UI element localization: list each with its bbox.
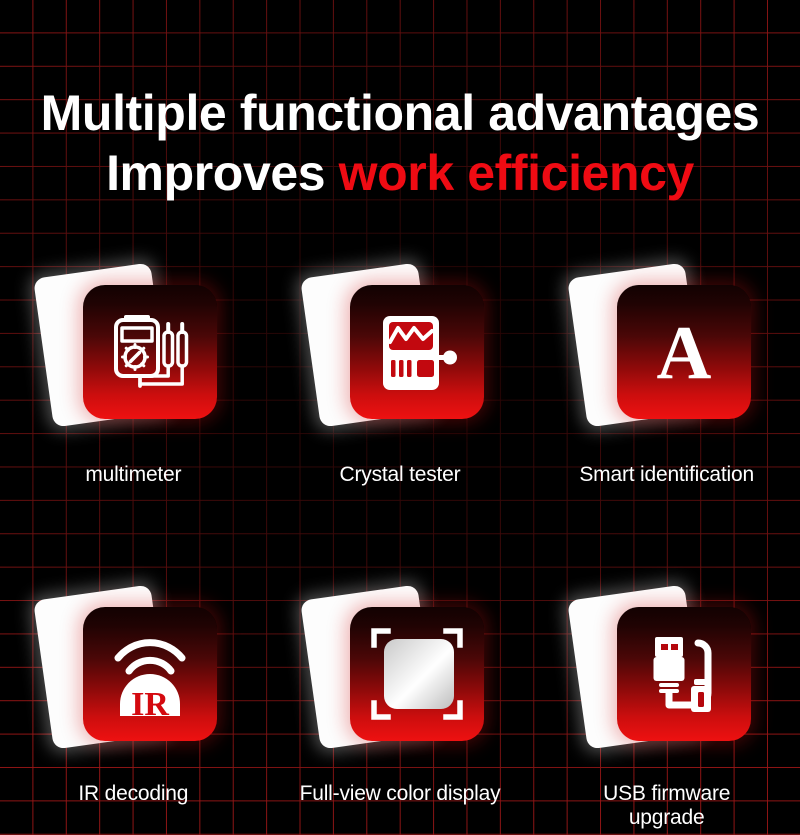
icon-tile <box>83 285 217 419</box>
headline-line-2-red: work efficiency <box>339 145 694 201</box>
tile-stack <box>583 600 751 768</box>
tile-stack <box>316 600 484 768</box>
tile-stack <box>49 278 217 446</box>
headline-line-2: Improves work efficiency <box>0 148 800 198</box>
promo-banner: Multiple functional advantages Improves … <box>0 0 800 835</box>
usb-cable-icon <box>638 628 730 720</box>
tile-stack: IR <box>49 600 217 768</box>
icon-tile <box>617 607 751 741</box>
feature-label: multimeter <box>85 463 181 487</box>
full-view-screen-icon <box>368 625 466 723</box>
letter-a-icon: A <box>638 306 730 398</box>
ir-signal-icon: IR <box>104 628 196 720</box>
feature-item-crystal-tester[interactable]: Crystal tester <box>267 278 534 487</box>
feature-row-1: multimeter <box>0 278 800 487</box>
feature-label: USB firmware upgrade <box>603 782 730 830</box>
headline-block: Multiple functional advantages Improves … <box>0 88 800 198</box>
tile-stack <box>316 278 484 446</box>
icon-tile: A <box>617 285 751 419</box>
multimeter-icon <box>104 306 196 398</box>
icon-tile <box>350 607 484 741</box>
feature-label: Smart identification <box>579 463 754 487</box>
feature-label: IR decoding <box>78 782 188 806</box>
feature-item-smart-identification[interactable]: A Smart identification <box>533 278 800 487</box>
icon-tile: IR <box>83 607 217 741</box>
feature-item-multimeter[interactable]: multimeter <box>0 278 267 487</box>
svg-text:A: A <box>656 311 711 395</box>
feature-label: Full-view color display <box>300 782 501 806</box>
feature-item-ir-decoding[interactable]: IR IR decoding <box>0 600 267 830</box>
headline-line-1: Multiple functional advantages <box>0 88 800 138</box>
icon-tile <box>350 285 484 419</box>
feature-item-color-display[interactable]: Full-view color display <box>267 600 534 830</box>
feature-row-2: IR IR decoding <box>0 600 800 830</box>
feature-item-usb-firmware[interactable]: USB firmware upgrade <box>533 600 800 830</box>
headline-line-2-white: Improves <box>106 145 339 201</box>
svg-text:IR: IR <box>131 686 169 720</box>
feature-label: Crystal tester <box>340 463 461 487</box>
feature-grid: multimeter <box>0 278 800 830</box>
crystal-tester-icon <box>371 306 463 398</box>
tile-stack: A <box>583 278 751 446</box>
